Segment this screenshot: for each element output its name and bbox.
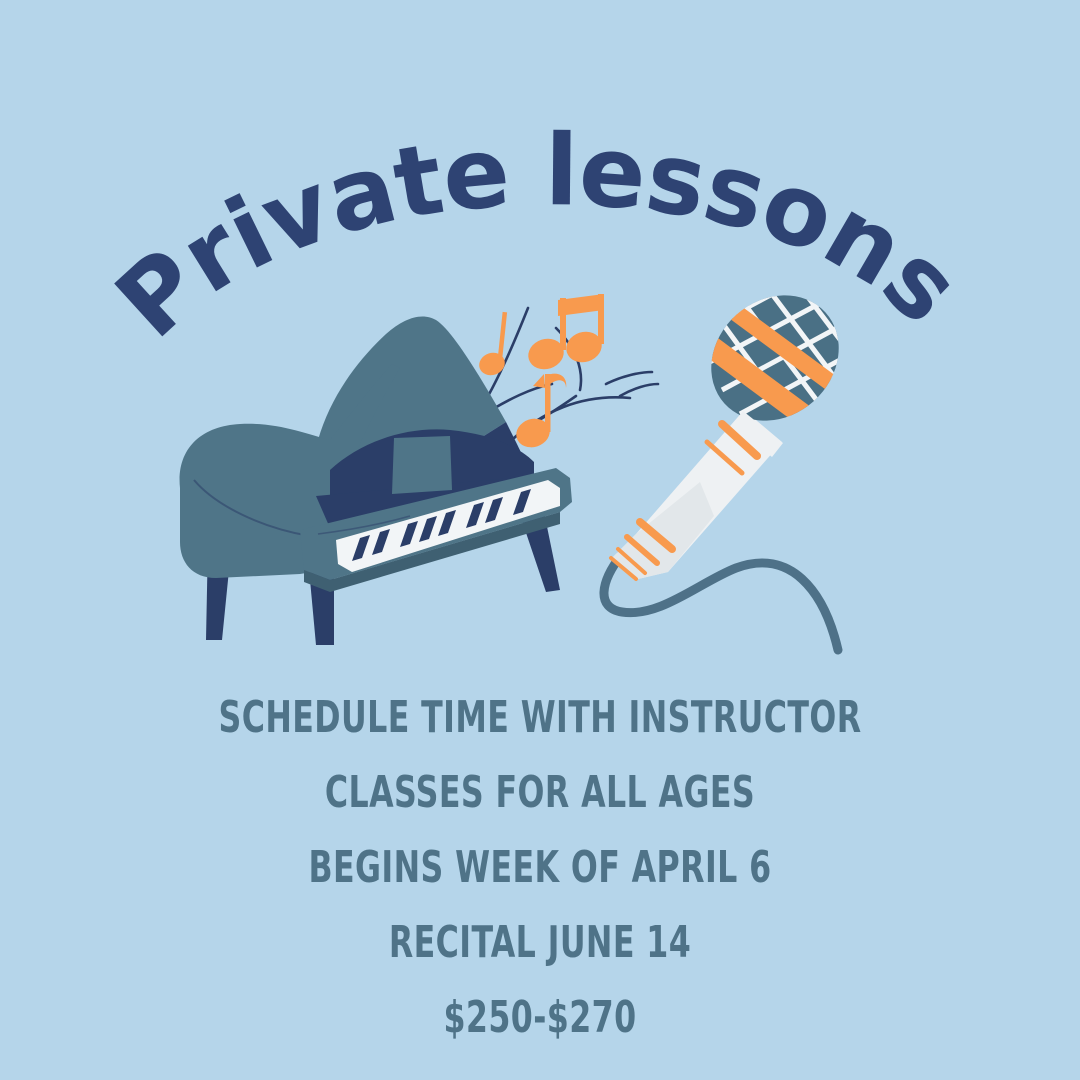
detail-line-price: $250-$270 (108, 980, 972, 1055)
details-block: SCHEDULE TIME WITH INSTRUCTOR CLASSES FO… (0, 680, 1080, 1055)
microphone (604, 290, 866, 650)
detail-line-classes: CLASSES FOR ALL AGES (108, 755, 972, 830)
detail-line-begins: BEGINS WEEK OF APRIL 6 (108, 830, 972, 905)
detail-line-recital: RECITAL JUNE 14 (108, 905, 972, 980)
poster-canvas: Private lessons (0, 0, 1080, 1080)
music-note-flagged (513, 374, 567, 452)
microphone-head (686, 290, 866, 447)
piano-music-stand (392, 436, 452, 494)
detail-line-schedule: SCHEDULE TIME WITH INSTRUCTOR (108, 680, 972, 755)
grand-piano (180, 316, 572, 645)
music-note-single-left (476, 312, 508, 379)
illustration (0, 290, 1080, 680)
music-note-beamed-pair (524, 294, 606, 374)
